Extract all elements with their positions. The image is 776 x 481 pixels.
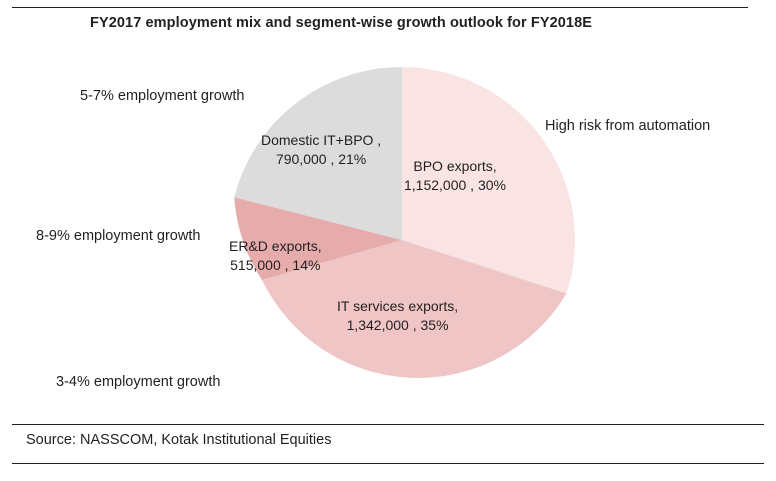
source-divider	[12, 424, 764, 425]
pie-label-erd-exports-line2: 515,000 , 14%	[229, 256, 322, 275]
bottom-divider	[12, 463, 764, 464]
pie-label-erd-exports: ER&D exports, 515,000 , 14%	[229, 237, 322, 275]
pie-label-domestic-it-bpo-line2: 790,000 , 21%	[261, 150, 381, 169]
pie-label-bpo-exports: BPO exports, 1,152,000 , 30%	[404, 157, 506, 195]
top-divider	[12, 7, 748, 8]
pie-label-domestic-it-bpo-line1: Domestic IT+BPO ,	[261, 132, 381, 148]
page-title: FY2017 employment mix and segment-wise g…	[90, 15, 592, 31]
pie-label-bpo-exports-line2: 1,152,000 , 30%	[404, 176, 506, 195]
annotation-bpo-exports-risk: High risk from automation	[545, 118, 710, 134]
annotation-erd-exports-growth: 8-9% employment growth	[36, 228, 200, 244]
exhibit-container: FY2017 employment mix and segment-wise g…	[0, 0, 776, 481]
annotation-domestic-it-bpo-growth: 5-7% employment growth	[80, 88, 244, 104]
pie-label-it-services-exports: IT services exports, 1,342,000 , 35%	[337, 297, 458, 335]
pie-label-domestic-it-bpo: Domestic IT+BPO , 790,000 , 21%	[261, 131, 381, 169]
pie-label-it-services-exports-line1: IT services exports,	[337, 298, 458, 314]
source-note: Source: NASSCOM, Kotak Institutional Equ…	[26, 432, 331, 448]
annotation-it-services-growth: 3-4% employment growth	[56, 374, 220, 390]
pie-label-bpo-exports-line1: BPO exports,	[413, 158, 496, 174]
pie-label-erd-exports-line1: ER&D exports,	[229, 238, 322, 254]
pie-label-it-services-exports-line2: 1,342,000 , 35%	[337, 316, 458, 335]
